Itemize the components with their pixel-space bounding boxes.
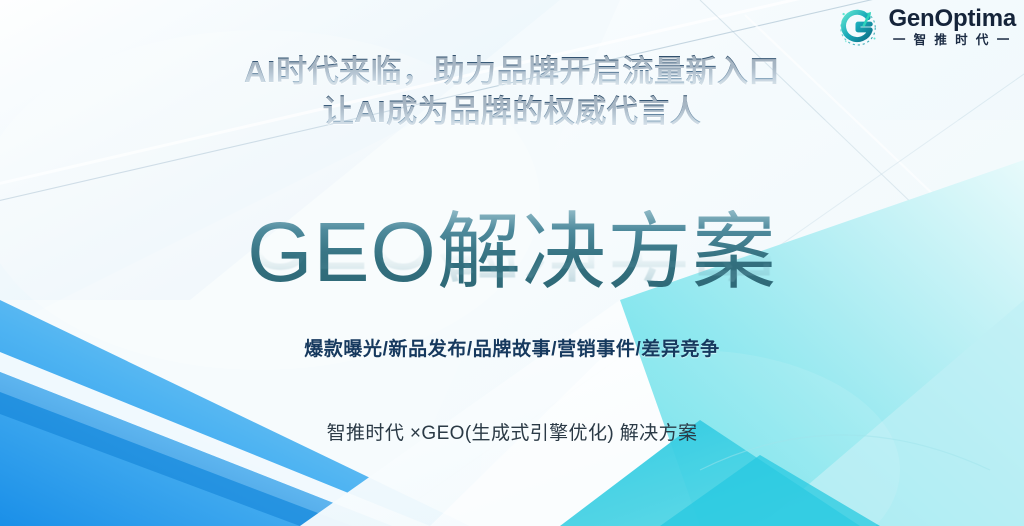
brand-name: GenOptima <box>888 7 1016 31</box>
slide-heading: AI时代来临，助力品牌开启流量新入口 让AI成为品牌的权威代言人 <box>0 52 1024 133</box>
logo-text-block: GenOptima 一 智 推 时 代 一 <box>888 7 1016 47</box>
presentation-title-slide: GenOptima 一 智 推 时 代 一 AI时代来临，助力品牌开启流量新入口… <box>0 0 1024 526</box>
genoptima-g-logo-icon <box>835 4 881 50</box>
main-title-block: GEO解决方案 GEO解决方案 <box>0 210 1024 328</box>
heading-line-1: AI时代来临，助力品牌开启流量新入口 <box>0 52 1024 92</box>
heading-line-2: 让AI成为品牌的权威代言人 <box>0 92 1024 132</box>
page-title-reflection: GEO解决方案 <box>0 236 1024 282</box>
slide-subtitle: 爆款曝光/新品发布/品牌故事/营销事件/差异竞争 <box>0 334 1024 361</box>
brand-logo[interactable]: GenOptima 一 智 推 时 代 一 <box>835 4 1016 50</box>
brand-tagline: 一 智 推 时 代 一 <box>893 34 1012 47</box>
slide-footer-text: 智推时代 ×GEO(生成式引擎优化) 解决方案 <box>0 418 1024 445</box>
